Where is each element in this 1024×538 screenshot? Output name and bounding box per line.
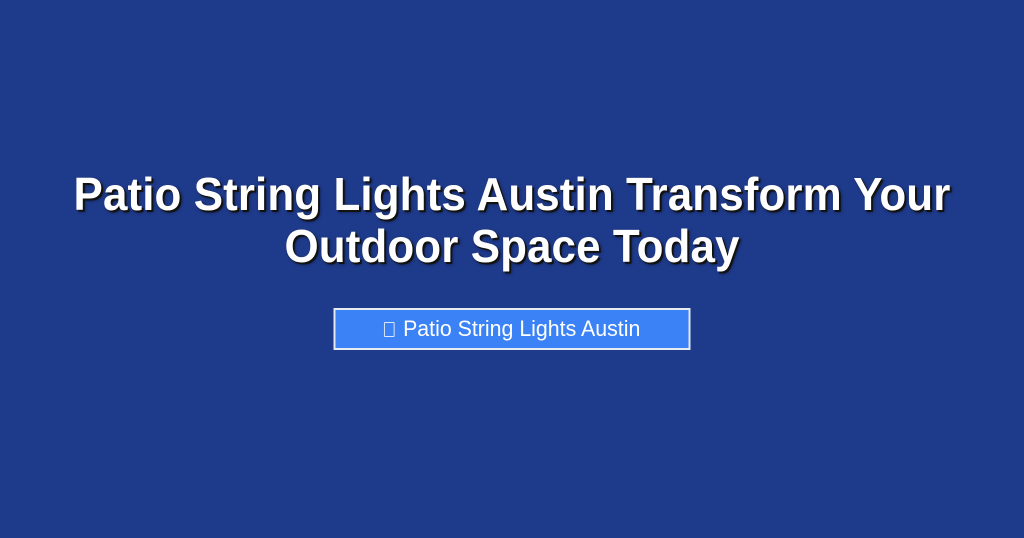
cta-button[interactable]: Patio String Lights Austin	[334, 308, 691, 350]
missing-glyph-box-icon	[384, 322, 395, 337]
hero-content: Patio String Lights Austin Transform You…	[0, 168, 1024, 350]
page-title: Patio String Lights Austin Transform You…	[68, 168, 956, 272]
cta-container: Patio String Lights Austin	[0, 308, 1024, 350]
hero-section: Patio String Lights Austin Transform You…	[0, 0, 1024, 538]
cta-button-label: Patio String Lights Austin	[403, 318, 640, 340]
